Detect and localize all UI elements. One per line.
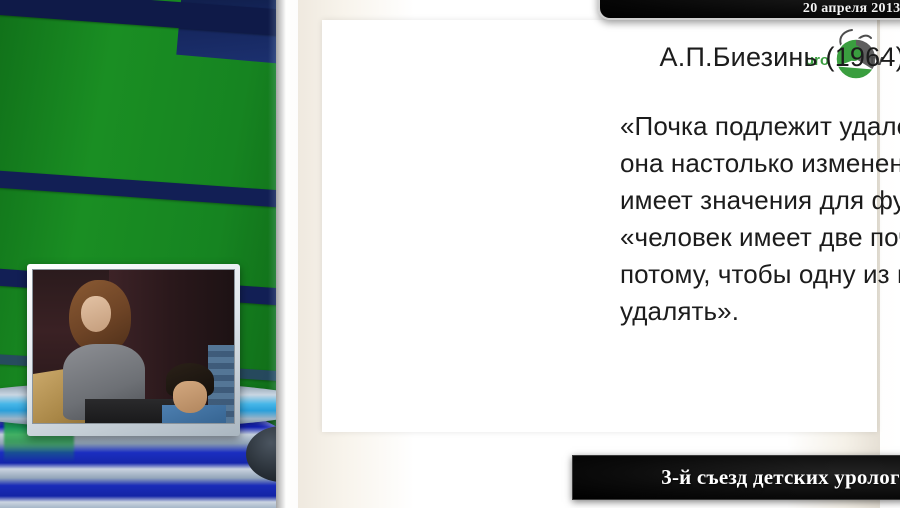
date-label: 20 апреля 2013г — [803, 1, 900, 17]
slide-body: «Почка подлежит удалению, если она насто… — [620, 108, 900, 330]
slide-body-line: «Почка подлежит удалению, если — [620, 108, 900, 145]
slide-body-line: потому, чтобы одну из них — [620, 256, 900, 293]
video-screen — [32, 269, 235, 424]
slide-panel: 20 апреля 2013г uro tv А.П.Биез — [276, 0, 900, 508]
slide-heading: А.П.Биезинь (1964): — [576, 42, 900, 73]
date-bar: 20 апреля 2013г — [598, 0, 900, 20]
speaker-video-inset[interactable] — [27, 264, 240, 436]
panel-edge-shadow — [276, 0, 286, 508]
slide-body-line: она настолько изменена, что не — [620, 145, 900, 182]
virtual-studio-background — [0, 0, 300, 508]
bottom-banner-label: 3-й съезд детских урологов - андрологов — [661, 465, 900, 490]
video-speaker-face — [81, 296, 111, 332]
bottom-banner: 3-й съезд детских урологов - андрологов — [572, 455, 900, 500]
slide-body-line: удалять». — [620, 293, 900, 330]
slide-body-line: «человек имеет две почки не — [620, 219, 900, 256]
video-attendee-face — [173, 381, 207, 413]
slide-body-line: имеет значения для функции… — [620, 182, 900, 219]
broadcast-screen: 20 апреля 2013г uro tv А.П.Биез — [0, 0, 900, 508]
